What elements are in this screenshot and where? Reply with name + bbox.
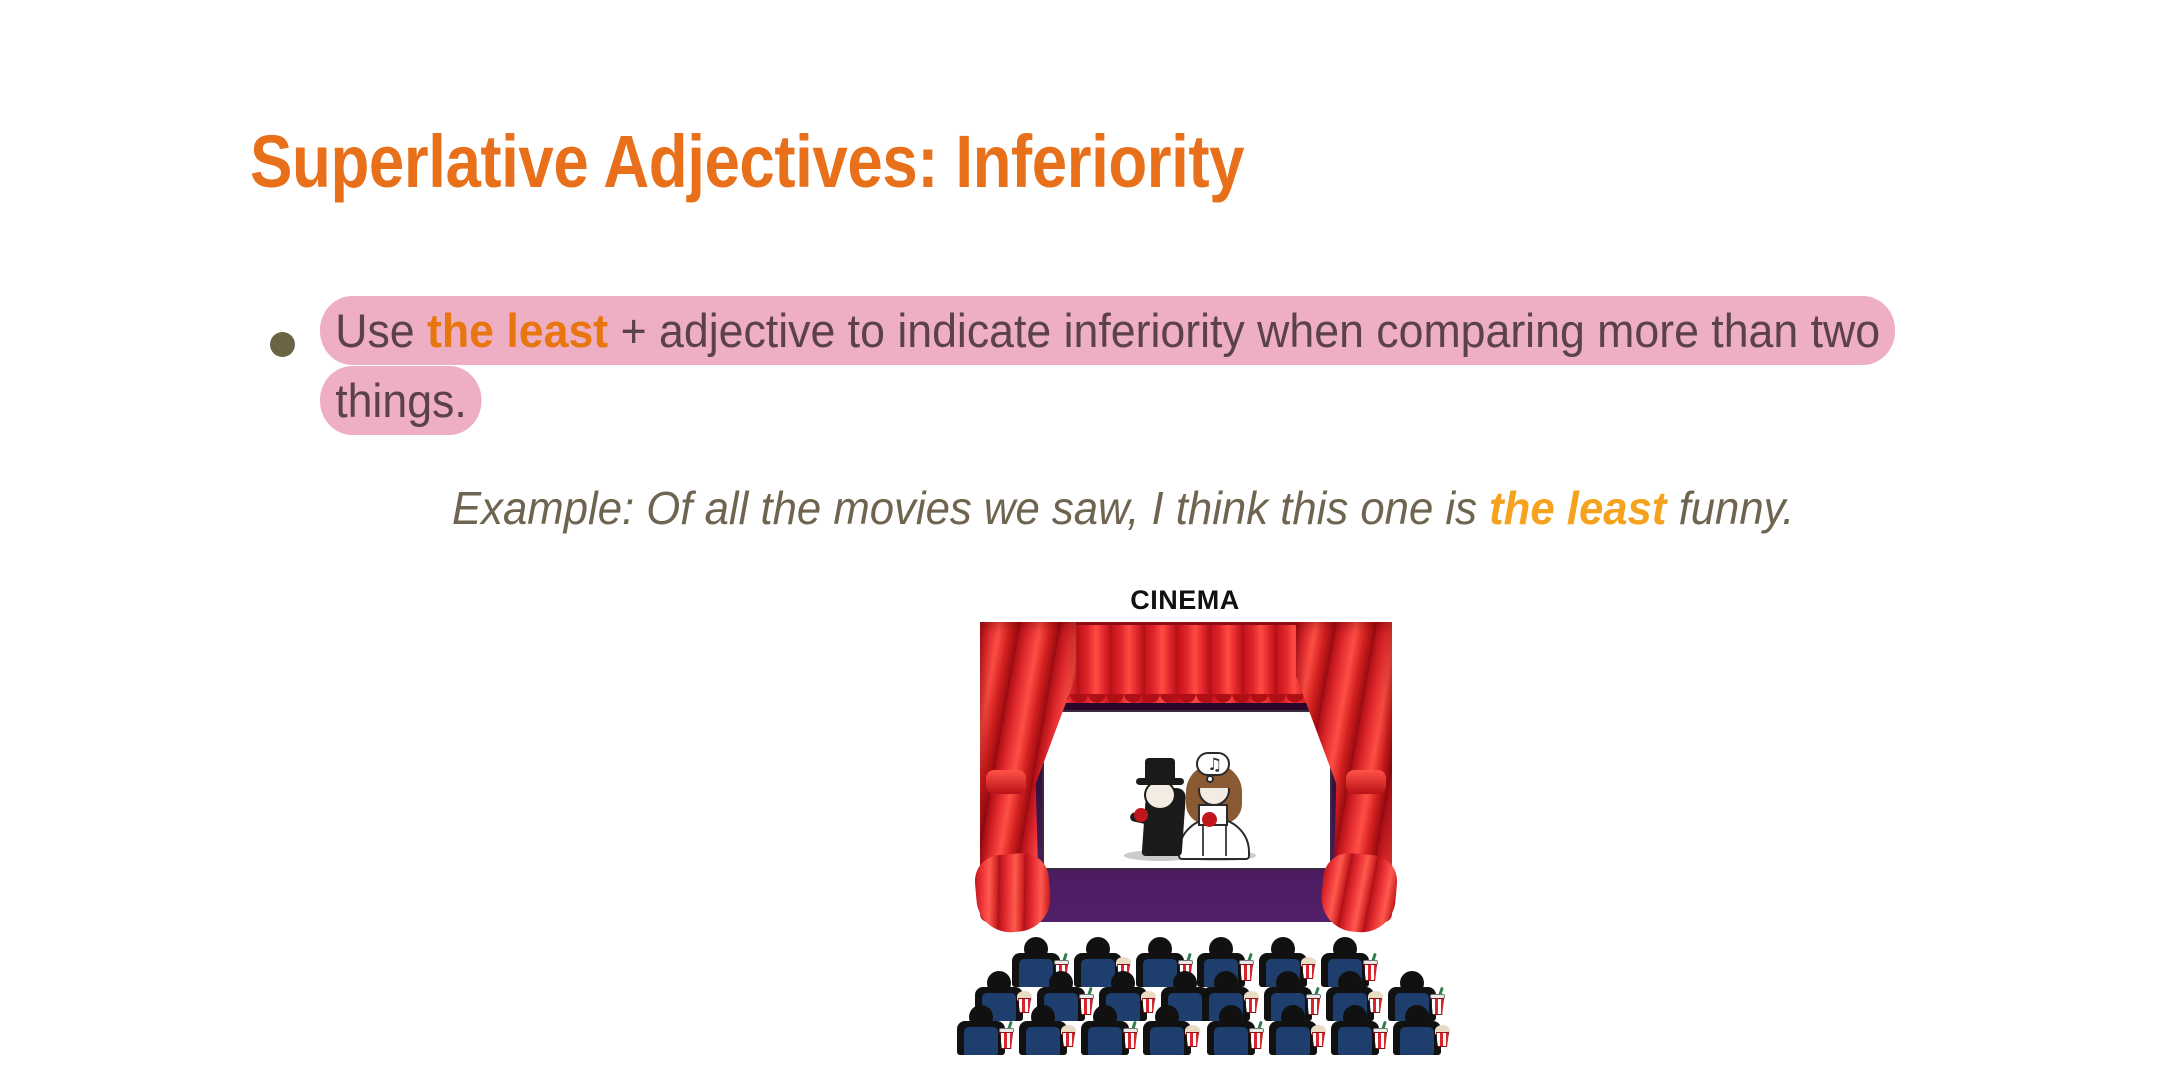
cinema-seat	[1088, 1027, 1122, 1055]
curtain-tieback-left	[986, 770, 1026, 794]
cinema-seat	[1276, 1027, 1310, 1055]
music-note-icon: ♫	[1207, 753, 1222, 777]
thought-bubble-icon: ♫	[1196, 752, 1230, 776]
cinema-audience	[955, 937, 1415, 1057]
popcorn-cup	[1436, 1032, 1449, 1047]
soda-cup-icon	[1123, 1025, 1138, 1049]
movie-screen: ♫	[1042, 710, 1332, 870]
curtain-left-drape	[973, 851, 1054, 935]
soda-cup	[1374, 1032, 1387, 1049]
curtain-tieback-right	[1346, 770, 1386, 794]
soda-cup-icon	[1373, 1025, 1388, 1049]
bullet-text-emphasis: the least	[427, 304, 608, 357]
soda-cup	[1250, 1032, 1263, 1049]
cinema-label: CINEMA	[955, 585, 1415, 616]
slide-canvas: Superlative Adjectives: Inferiority Use …	[0, 0, 2160, 1090]
top-hat-icon	[1145, 758, 1175, 782]
bullet-marker-icon	[270, 332, 295, 357]
popcorn-cup	[1312, 1032, 1325, 1047]
example-emphasis: the least	[1489, 482, 1666, 534]
cinema-seat	[1400, 1027, 1434, 1055]
bride-bouquet-icon	[1202, 812, 1217, 827]
popcorn-cup	[1186, 1032, 1199, 1047]
cinema-seat	[964, 1027, 998, 1055]
screen-scene-couple: ♫	[1122, 752, 1254, 864]
bullet-text-lead: Use	[335, 304, 427, 357]
popcorn-cup	[1062, 1032, 1075, 1047]
example-lead: Example: Of all the movies we saw, I thi…	[452, 482, 1489, 534]
example-tail: funny.	[1666, 482, 1794, 534]
cinema-seat	[1338, 1027, 1372, 1055]
soda-cup	[1000, 1032, 1013, 1049]
cinema-seat	[1214, 1027, 1248, 1055]
bullet-item-text: Use the least + adjective to indicate in…	[320, 296, 1992, 436]
popcorn-icon	[1311, 1025, 1326, 1047]
popcorn-icon	[1435, 1025, 1450, 1047]
page-title: Superlative Adjectives: Inferiority	[250, 120, 1244, 204]
soda-cup-icon	[1249, 1025, 1264, 1049]
soda-cup-icon	[999, 1025, 1014, 1049]
popcorn-icon	[1061, 1025, 1076, 1047]
soda-cup	[1124, 1032, 1137, 1049]
popcorn-icon	[1185, 1025, 1200, 1047]
cinema-stage: ♫	[980, 622, 1392, 942]
groom-rose-icon	[1134, 808, 1148, 822]
example-sentence: Example: Of all the movies we saw, I thi…	[452, 480, 1794, 536]
cinema-seat	[1150, 1027, 1184, 1055]
curtain-right-drape	[1319, 851, 1400, 935]
cinema-illustration: CINEMA	[955, 585, 1415, 1055]
cinema-seat	[1026, 1027, 1060, 1055]
